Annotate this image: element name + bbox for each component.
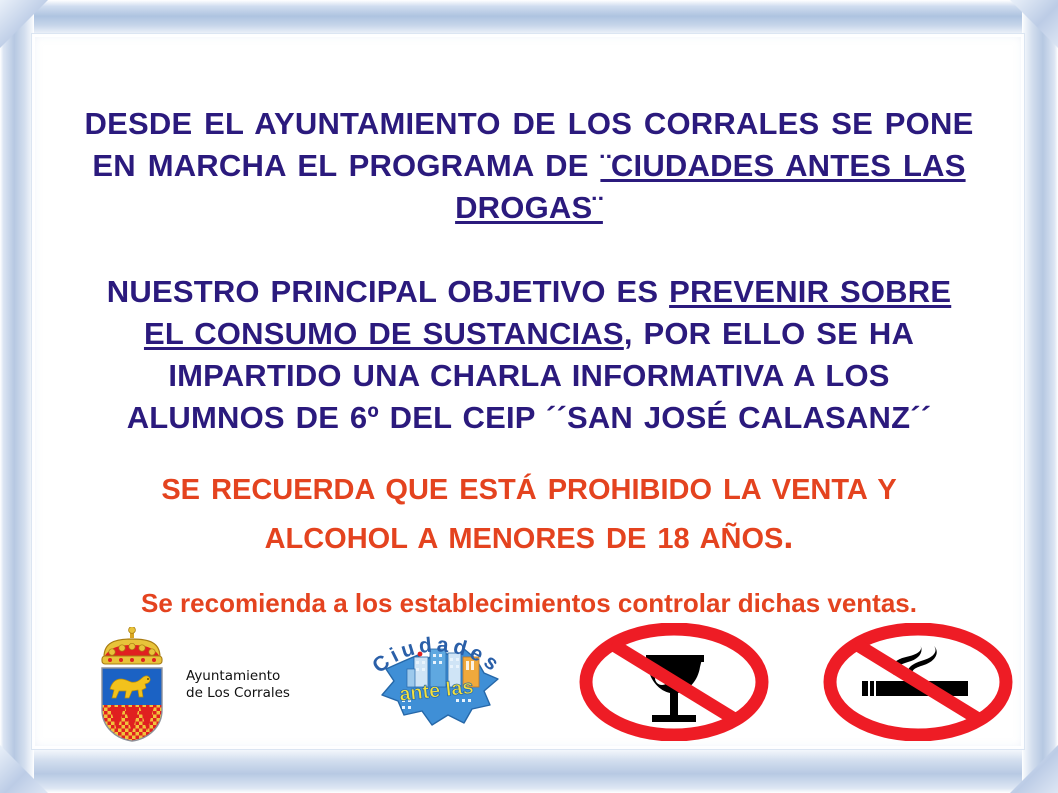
frame-corner-bottom-left (0, 745, 48, 793)
announcement-line-2-prefix: EN MARCHA EL PROGRAMA DE (92, 148, 600, 183)
warning-line-2-period: . (783, 515, 793, 556)
ayuntamiento-logo: Ayuntamiento de Los Corrales (90, 627, 330, 743)
objective-line-3: IMPARTIDO UNA CHARLA INFORMATIVA A LOS (168, 358, 889, 393)
program-name-part-2: DROGAS¨ (455, 190, 603, 225)
frame-corner-top-left (0, 0, 48, 48)
announcement-line-1: DESDE EL AYUNTAMIENTO DE LOS CORRALES SE… (85, 106, 974, 141)
warning-line-2: ALCOHOL A MENORES DE 18 AÑOS (265, 523, 784, 555)
objective-emphasis-part-2: EL CONSUMO DE SUSTANCIAS (144, 316, 624, 351)
coat-of-arms-icon (90, 627, 176, 743)
objective-line-4: ALUMNOS DE 6º DEL CEIP ´´SAN JOSÉ CALASA… (127, 400, 932, 435)
warning-line-1: SE RECUERDA QUE ESTÁ PROHIBIDO LA VENTA … (161, 474, 896, 506)
announcement-paragraph: DESDE EL AYUNTAMIENTO DE LOS CORRALES SE… (42, 103, 1016, 229)
ayuntamiento-caption-line-1: Ayuntamiento (186, 668, 290, 685)
recommendation-text: Se recomienda a los establecimientos con… (42, 586, 1016, 620)
frame-bottom-band (0, 747, 1058, 793)
frame-corner-top-right (1010, 0, 1058, 48)
no-alcohol-sign (576, 623, 772, 746)
logo-strip: Ayuntamiento de Los Corrales (42, 622, 1016, 747)
program-name-part-1: ¨CIUDADES ANTES LAS (600, 148, 965, 183)
ciudades-ante-las-drogas-logo: ante las Ciudades Drogas (352, 623, 522, 746)
objective-paragraph: NUESTRO PRINCIPAL OBJETIVO ES PREVENIR S… (42, 271, 1016, 439)
ciudades-logo-icon: ante las Ciudades Drogas (352, 623, 522, 741)
frame-top-band (0, 0, 1058, 36)
no-smoking-icon (820, 623, 1016, 741)
ayuntamiento-caption: Ayuntamiento de Los Corrales (186, 668, 290, 702)
objective-emphasis-part-1: PREVENIR SOBRE (669, 274, 951, 309)
no-alcohol-icon (576, 623, 772, 741)
frame-right-band (1022, 0, 1058, 793)
frame-corner-bottom-right (1010, 745, 1058, 793)
sale-prohibition-warning: SE RECUERDA QUE ESTÁ PROHIBIDO LA VENTA … (42, 467, 1016, 562)
poster: DESDE EL AYUNTAMIENTO DE LOS CORRALES SE… (0, 0, 1058, 793)
poster-content: DESDE EL AYUNTAMIENTO DE LOS CORRALES SE… (42, 40, 1016, 745)
no-smoking-sign (820, 623, 1016, 746)
objective-line-1-prefix: NUESTRO PRINCIPAL OBJETIVO ES (107, 274, 669, 309)
frame-left-band (0, 0, 34, 793)
ayuntamiento-caption-line-2: de Los Corrales (186, 685, 290, 702)
objective-line-2-suffix: , POR ELLO SE HA (624, 316, 914, 351)
